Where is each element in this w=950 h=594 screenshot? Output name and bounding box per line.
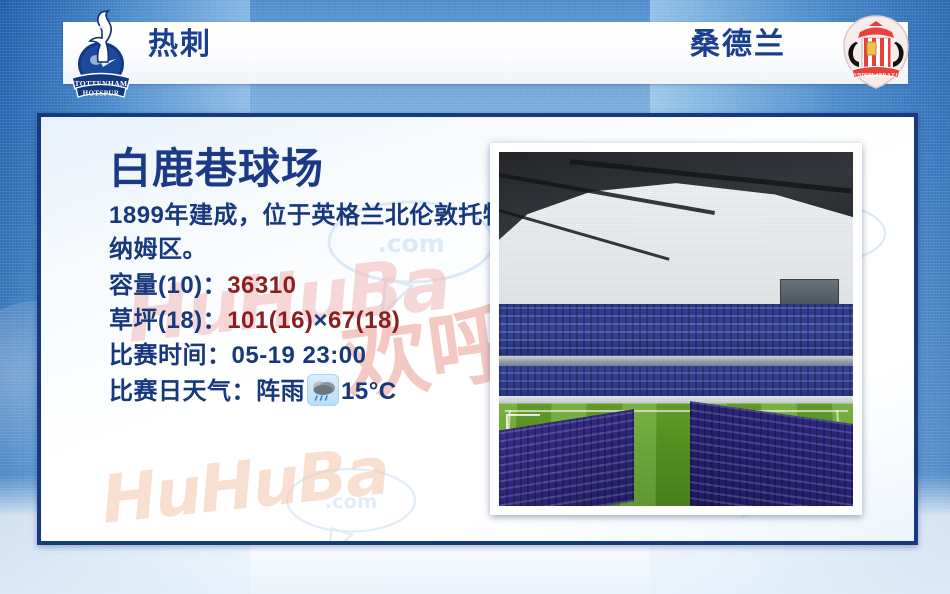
svg-text:SUNDERLAND A.F.C.: SUNDERLAND A.F.C. — [851, 74, 901, 79]
panel-background: .com .com .com — [41, 117, 914, 541]
photo-grain-overlay — [499, 152, 853, 506]
stadium-photo-frame — [490, 143, 862, 515]
tottenham-hotspur-crest: TOTTENHAM HOTSPUR — [62, 6, 140, 98]
capacity-row: 容量(10)：36310 — [109, 269, 509, 304]
pitch-width-value: 67(18) — [328, 307, 400, 334]
pitch-label: 草坪(18)： — [109, 307, 227, 334]
sunderland-afc-crest: SUNDERLAND A.F.C. — [836, 12, 916, 92]
match-time-label: 比赛时间： — [109, 342, 232, 369]
match-stadium-infographic: TOTTENHAM HOTSPUR 热刺 SUNDERLAND A.F.C. 桑… — [0, 0, 950, 594]
weather-temperature: 15°C — [341, 378, 397, 405]
rain-cloud-icon — [307, 374, 339, 406]
watermark-brand-cn: 欢呼吧 — [287, 528, 505, 541]
stadium-title: 白鹿巷球场 — [109, 147, 509, 191]
weather-value: 阵雨 — [256, 378, 305, 405]
weather-label: 比赛日天气： — [109, 378, 256, 405]
match-time-row: 比赛时间：05-19 23:00 — [109, 339, 509, 374]
match-time-value: 05-19 23:00 — [232, 342, 367, 369]
svg-text:HOTSPUR: HOTSPUR — [83, 90, 120, 98]
stadium-info-text: 白鹿巷球场 1899年建成，位于英格兰北伦敦托特纳姆区。 容量(10)：3631… — [109, 147, 509, 409]
match-weather-row: 比赛日天气：阵雨 15°C — [109, 374, 509, 410]
capacity-label: 容量(10)： — [109, 272, 227, 299]
capacity-value: 36310 — [227, 272, 296, 299]
pitch-size-row: 草坪(18)：101(16)×67(18) — [109, 304, 509, 339]
home-team-name: 热刺 — [148, 30, 212, 60]
watermark-speech-bubble: .com — [277, 461, 425, 541]
stadium-info-panel: .com .com .com — [37, 113, 918, 545]
stadium-description: 1899年建成，位于英格兰北伦敦托特纳姆区。 — [109, 199, 509, 267]
svg-text:.com: .com — [325, 490, 378, 513]
stadium-photo — [499, 152, 853, 506]
pitch-separator: × — [313, 307, 328, 334]
watermark-brand-en: HuHuBa — [98, 432, 392, 539]
pitch-length-value: 101(16) — [227, 307, 313, 334]
away-team-name: 桑德兰 — [690, 30, 786, 60]
